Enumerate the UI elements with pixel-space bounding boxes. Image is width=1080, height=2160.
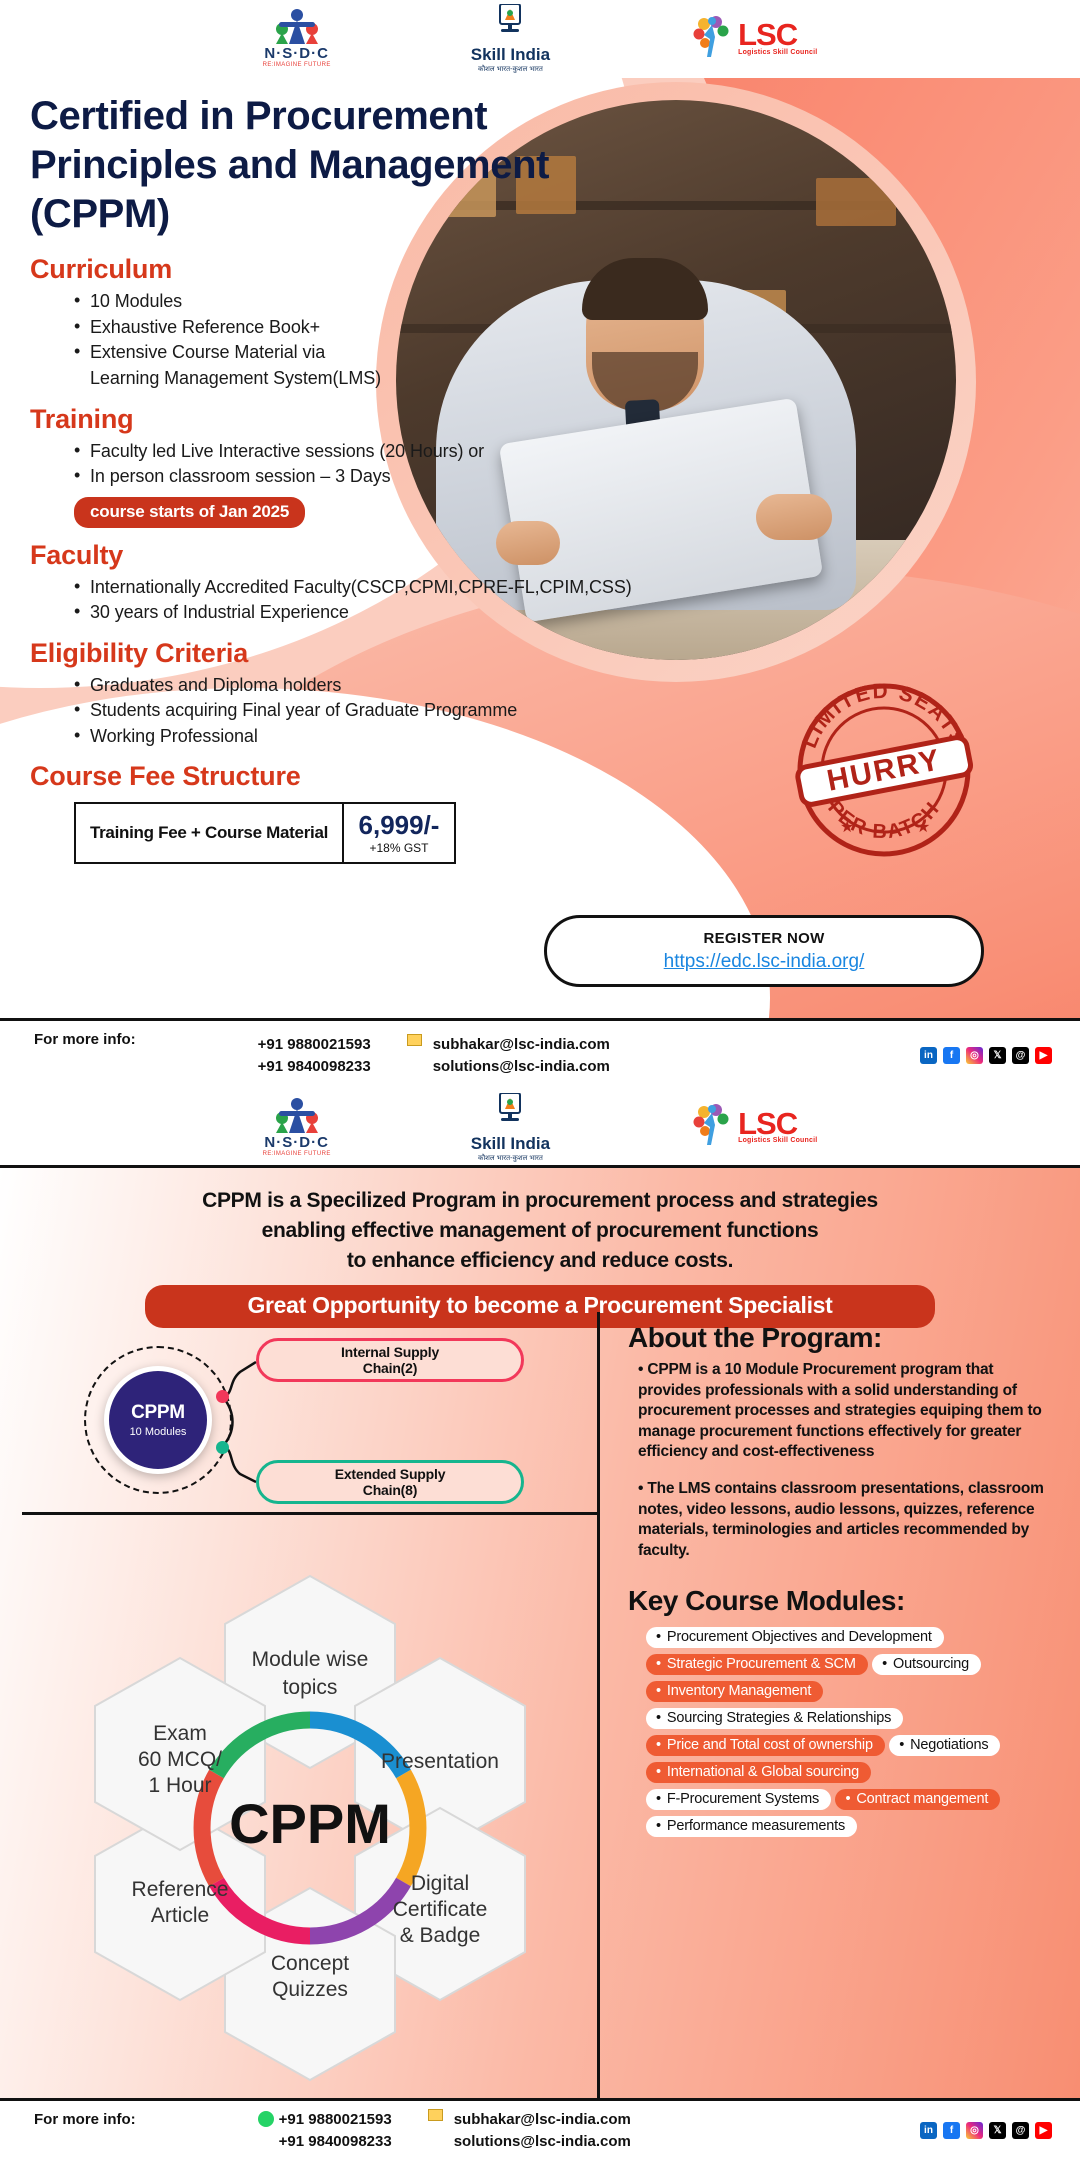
course-start-badge: course starts of Jan 2025 (74, 497, 305, 528)
module-item: •Contract mangement (835, 1789, 1000, 1810)
logo-skill-india-2: Skill India कौशल भारत-कुशल भारत (471, 1093, 550, 1163)
program-intro: CPPM is a Specilized Program in procurem… (0, 1168, 1080, 1275)
fee-amount: 6,999/- (359, 812, 440, 838)
list-item: 30 years of Industrial Experience (74, 600, 650, 626)
chip-line-2: Chain(2) (363, 1360, 417, 1376)
hex-label-exam-l3: 1 Hour (148, 1774, 211, 1797)
module-item: •Procurement Objectives and Development (646, 1627, 944, 1648)
phone-numbers: +91 9880021593 +91 9840098233 (258, 2109, 392, 2153)
training-list: Faculty led Live Interactive sessions (2… (74, 439, 650, 490)
list-item: Learning Management System(LMS) (74, 366, 650, 392)
about-paragraph-2: • The LMS contains classroom presentatio… (638, 1479, 1056, 1561)
left-column: CPPM 10 Modules Internal Supply Cha (0, 1312, 600, 2102)
list-item: Extensive Course Material via (74, 340, 650, 366)
list-item: Working Professional (74, 724, 650, 750)
page-title: Certified in Procurement Principles and … (30, 92, 650, 238)
logo-nsdc: N·S·D·C RE:IMAGINE FUTURE (263, 10, 331, 68)
facebook-icon[interactable]: f (943, 2122, 960, 2139)
mindmap-diagram: CPPM 10 Modules Internal Supply Cha (22, 1322, 600, 1512)
list-item: 10 Modules (74, 289, 650, 315)
logo-strip-bottom: N·S·D·C RE:IMAGINE FUTURE Skill India कौ… (0, 1090, 1080, 1168)
threads-icon[interactable]: @ (1012, 2122, 1029, 2139)
nsdc-figures-icon (271, 1099, 323, 1133)
module-item: •Inventory Management (646, 1681, 823, 1702)
skill-india-label: Skill India (471, 45, 550, 65)
x-twitter-icon[interactable]: 𝕏 (989, 2122, 1006, 2139)
phone-numbers: +91 9880021593 +91 9840098233 (258, 1034, 371, 1078)
module-item: •Performance measurements (646, 1816, 857, 1837)
linkedin-icon[interactable]: in (920, 1047, 937, 1064)
register-url-link[interactable]: https://edc.lsc-india.org/ (664, 951, 865, 973)
intro-line-2: enabling effective management of procure… (60, 1216, 1020, 1246)
lsc-label: LSC (738, 22, 817, 48)
lsc-label: LSC (738, 1111, 817, 1137)
panel-top-content: Certified in Procurement Principles and … (30, 92, 650, 864)
facebook-icon[interactable]: f (943, 1047, 960, 1064)
chip-line-2: Chain(8) (363, 1482, 417, 1498)
contact-strip-bottom: For more info: +91 9880021593 +91 984009… (0, 2098, 1080, 2160)
social-links: in f ◎ 𝕏 @ ▶ (920, 1047, 1052, 1064)
logo-strip-top: N·S·D·C RE:IMAGINE FUTURE Skill India कौ… (0, 0, 1080, 78)
nsdc-tagline: RE:IMAGINE FUTURE (263, 1151, 331, 1157)
phone-2: +91 9840098233 (258, 2131, 392, 2153)
whatsapp-icon (258, 2111, 274, 2127)
hex-label-digital-certificate-l1: Digital (411, 1872, 469, 1895)
social-links: in f ◎ 𝕏 @ ▶ (920, 2122, 1052, 2139)
hex-label-presentation: Presentation (381, 1750, 499, 1773)
skill-india-monitor-icon (494, 4, 526, 43)
panel-top: N·S·D·C RE:IMAGINE FUTURE Skill India कौ… (0, 0, 1080, 1090)
mail-icon (428, 2109, 443, 2121)
hex-label-reference-article-l2: Article (151, 1904, 209, 1927)
mindmap-dot-extended (216, 1441, 229, 1454)
left-column-divider (22, 1512, 600, 1515)
linkedin-icon[interactable]: in (920, 2122, 937, 2139)
lsc-tagline: Logistics Skill Council (738, 49, 817, 56)
nsdc-figures-icon (271, 10, 323, 44)
section-heading-fee: Course Fee Structure (30, 761, 650, 792)
hex-label-digital-certificate-l2: Certificate (393, 1898, 488, 1921)
intro-line-3: to enhance efficiency and reduce costs. (60, 1246, 1020, 1276)
section-heading-curriculum: Curriculum (30, 254, 650, 285)
lsc-person-icon (690, 15, 734, 64)
email-1: subhakar@lsc-india.com (454, 2109, 631, 2131)
skill-india-tagline: कौशल भारत-कुशल भारत (478, 65, 543, 74)
svg-text:★: ★ (840, 819, 854, 836)
hex-label-digital-certificate-l3: & Badge (400, 1924, 481, 1947)
about-program-heading: About the Program: (628, 1322, 1056, 1354)
skill-india-tagline: कौशल भारत-कुशल भारत (478, 1154, 543, 1163)
contact-strip-top: For more info: +91 9880021593 +91 984009… (0, 1018, 1080, 1090)
faculty-list: Internationally Accredited Faculty(CSCP,… (74, 575, 650, 626)
more-info-label: For more info: (34, 2111, 136, 2128)
more-info-label: For more info: (34, 1031, 136, 1048)
youtube-icon[interactable]: ▶ (1035, 2122, 1052, 2139)
nsdc-tagline: RE:IMAGINE FUTURE (263, 62, 331, 68)
lsc-tagline: Logistics Skill Council (738, 1137, 817, 1144)
hex-label-reference-article-l1: Reference (132, 1878, 229, 1901)
module-item: •Outsourcing (872, 1654, 981, 1675)
key-modules-list: •Procurement Objectives and Development … (646, 1627, 1056, 1843)
eligibility-list: Graduates and Diploma holders Students a… (74, 673, 650, 750)
section-heading-eligibility: Eligibility Criteria (30, 638, 650, 669)
x-twitter-icon[interactable]: 𝕏 (989, 1047, 1006, 1064)
mindmap-dot-internal (216, 1390, 229, 1403)
hex-label-module-wise-topics-l2: topics (283, 1676, 338, 1699)
emails: subhakar@lsc-india.com solutions@lsc-ind… (428, 2109, 631, 2153)
module-item: •Sourcing Strategies & Relationships (646, 1708, 903, 1729)
mail-icon (407, 1034, 422, 1046)
fee-value-cell: 6,999/- +18% GST (342, 804, 454, 862)
list-item: Internationally Accredited Faculty(CSCP,… (74, 575, 650, 601)
youtube-icon[interactable]: ▶ (1035, 1047, 1052, 1064)
email-1: subhakar@lsc-india.com (433, 1034, 610, 1056)
email-2: solutions@lsc-india.com (433, 1056, 610, 1078)
logo-skill-india: Skill India कौशल भारत-कुशल भारत (471, 4, 550, 74)
hex-label-exam-l1: Exam (153, 1722, 207, 1745)
module-item: •F-Procurement Systems (646, 1789, 831, 1810)
hex-label-concept-quizzes-l1: Concept (271, 1952, 349, 1975)
list-item: Graduates and Diploma holders (74, 673, 650, 699)
module-item: •Price and Total cost of ownership (646, 1735, 885, 1756)
hex-label-concept-quizzes-l2: Quizzes (272, 1978, 348, 2001)
skill-india-label: Skill India (471, 1134, 550, 1154)
logo-nsdc-2: N·S·D·C RE:IMAGINE FUTURE (263, 1099, 331, 1157)
chip-line-1: Internal Supply (341, 1344, 439, 1360)
fee-gst: +18% GST (369, 841, 428, 855)
logo-lsc-2: LSC Logistics Skill Council (690, 1103, 817, 1152)
fee-label: Training Fee + Course Material (76, 804, 342, 862)
panel-bottom: N·S·D·C RE:IMAGINE FUTURE Skill India कौ… (0, 1090, 1080, 2160)
hex-label-module-wise-topics-l1: Module wise (252, 1648, 369, 1671)
right-column: About the Program: • CPPM is a 10 Module… (600, 1312, 1080, 2102)
register-now-button[interactable]: REGISTER NOW https://edc.lsc-india.org/ (544, 915, 984, 987)
key-modules-heading: Key Course Modules: (628, 1585, 1056, 1617)
list-item: Students acquiring Final year of Graduat… (74, 698, 650, 724)
phone-2: +91 9840098233 (258, 1056, 371, 1078)
section-heading-faculty: Faculty (30, 540, 650, 571)
list-item: Exhaustive Reference Book+ (74, 315, 650, 341)
list-item: Faculty led Live Interactive sessions (2… (74, 439, 650, 465)
instagram-icon[interactable]: ◎ (966, 1047, 983, 1064)
phone-1: +91 9880021593 (258, 2109, 392, 2131)
hex-label-exam-l2: 60 MCQ/ (138, 1748, 222, 1771)
instagram-icon[interactable]: ◎ (966, 2122, 983, 2139)
panel-bottom-content: CPPM is a Specilized Program in procurem… (0, 1168, 1080, 2098)
svg-text:★: ★ (916, 819, 930, 836)
hexwheel-center-label: CPPM (229, 1792, 391, 1855)
limited-seats-stamp: LIMITED SEATS PER BATCH ★ ★ HURRY (786, 672, 982, 868)
chip-line-1: Extended Supply (335, 1466, 446, 1482)
poster-page: N·S·D·C RE:IMAGINE FUTURE Skill India कौ… (0, 0, 1080, 2160)
mindmap-chip-internal-supply-chain: Internal Supply Chain(2) (256, 1338, 524, 1382)
email-2: solutions@lsc-india.com (454, 2131, 631, 2153)
register-label: REGISTER NOW (703, 930, 824, 947)
section-heading-training: Training (30, 404, 650, 435)
curriculum-list: 10 Modules Exhaustive Reference Book+ Ex… (74, 289, 650, 391)
fee-table: Training Fee + Course Material 6,999/- +… (74, 802, 456, 864)
skill-india-monitor-icon (494, 1093, 526, 1132)
nsdc-label: N·S·D·C (264, 45, 329, 62)
lsc-person-icon (690, 1103, 734, 1152)
module-item: •Strategic Procurement & SCM (646, 1654, 868, 1675)
two-column-area: CPPM 10 Modules Internal Supply Cha (0, 1312, 1080, 2102)
threads-icon[interactable]: @ (1012, 1047, 1029, 1064)
phone-1: +91 9880021593 (258, 1034, 371, 1056)
module-item: •Negotiations (889, 1735, 1000, 1756)
hexagon-wheel-diagram: CPPM Module wise topics Presentation Dig… (20, 1518, 600, 2098)
nsdc-label: N·S·D·C (264, 1134, 329, 1151)
logo-lsc: LSC Logistics Skill Council (690, 15, 817, 64)
intro-line-1: CPPM is a Specilized Program in procurem… (60, 1186, 1020, 1216)
mindmap-chip-extended-supply-chain: Extended Supply Chain(8) (256, 1460, 524, 1504)
list-item: In person classroom session – 3 Days (74, 464, 650, 490)
emails: subhakar@lsc-india.com solutions@lsc-ind… (407, 1034, 610, 1078)
about-paragraph-1: • CPPM is a 10 Module Procurement progra… (638, 1360, 1056, 1463)
module-item: •International & Global sourcing (646, 1762, 871, 1783)
